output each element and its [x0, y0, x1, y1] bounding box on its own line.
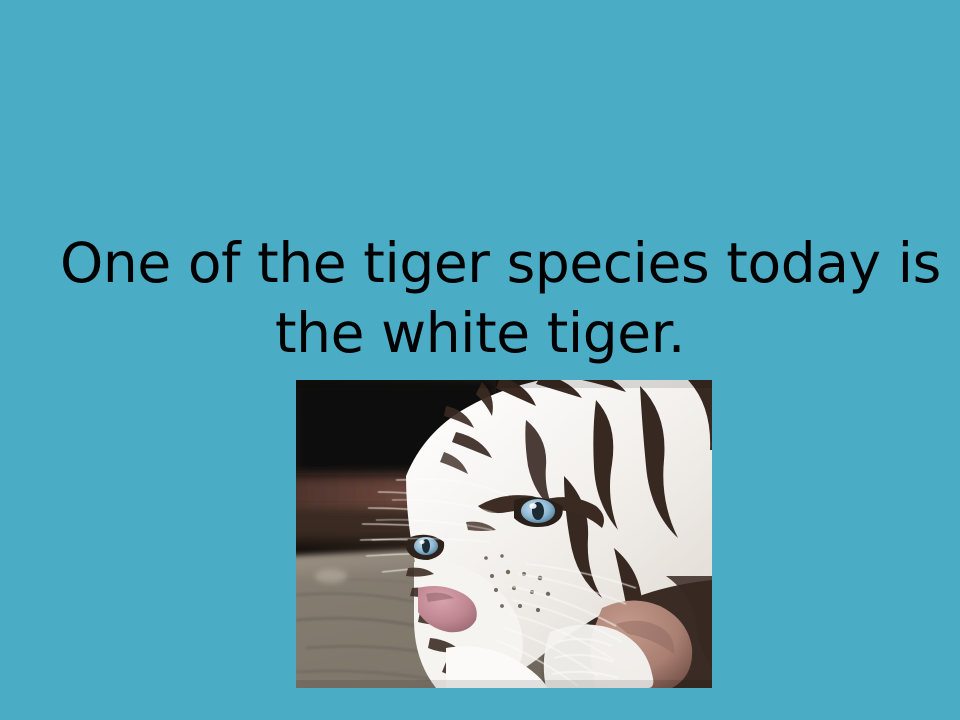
white-tiger-photo-image [296, 380, 712, 688]
title-line-2: the white tiger. [60, 298, 900, 368]
presentation-slide: One of the tiger species today is the wh… [0, 0, 960, 720]
slide-title: One of the tiger species today is the wh… [60, 228, 900, 368]
title-line-1: One of the tiger species today is [60, 228, 900, 298]
white-tiger-photo [296, 380, 712, 688]
